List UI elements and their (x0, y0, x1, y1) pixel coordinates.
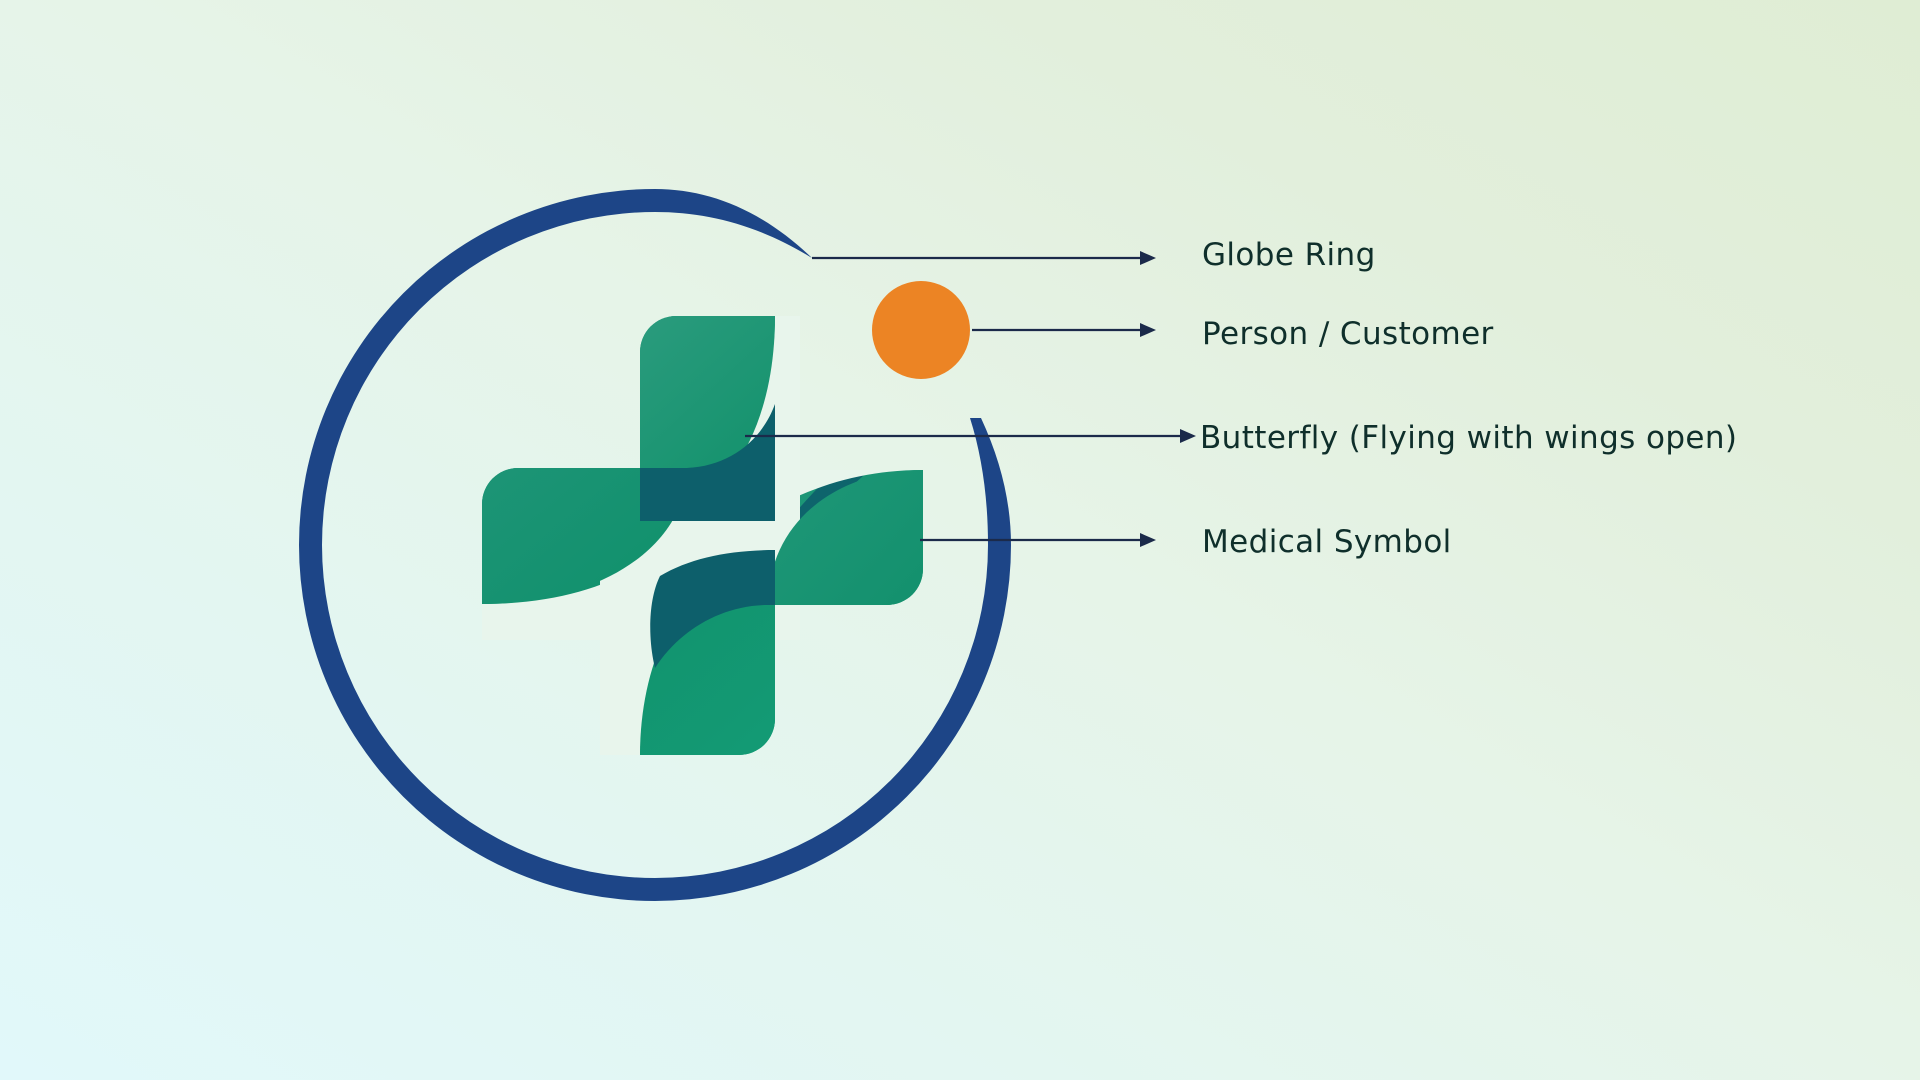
annotation-label-medical-symbol: Medical Symbol (1202, 524, 1452, 561)
annotation-label-butterfly: Butterfly (Flying with wings open) (1200, 420, 1737, 457)
annotation-label-globe-ring: Globe Ring (1202, 237, 1376, 274)
leader-arrowheads (1140, 251, 1196, 547)
logo-annotation-canvas: Globe Ring Person / Customer Butterfly (… (0, 0, 1920, 1080)
person-customer-dot (872, 281, 970, 379)
logo-illustration (0, 0, 1920, 1080)
arrowhead-medical-symbol (1140, 533, 1156, 547)
arrowhead-globe-ring (1140, 251, 1156, 265)
annotation-label-person-customer: Person / Customer (1202, 316, 1494, 353)
arrowhead-person-customer (1140, 323, 1156, 337)
arrowhead-butterfly (1180, 429, 1196, 443)
